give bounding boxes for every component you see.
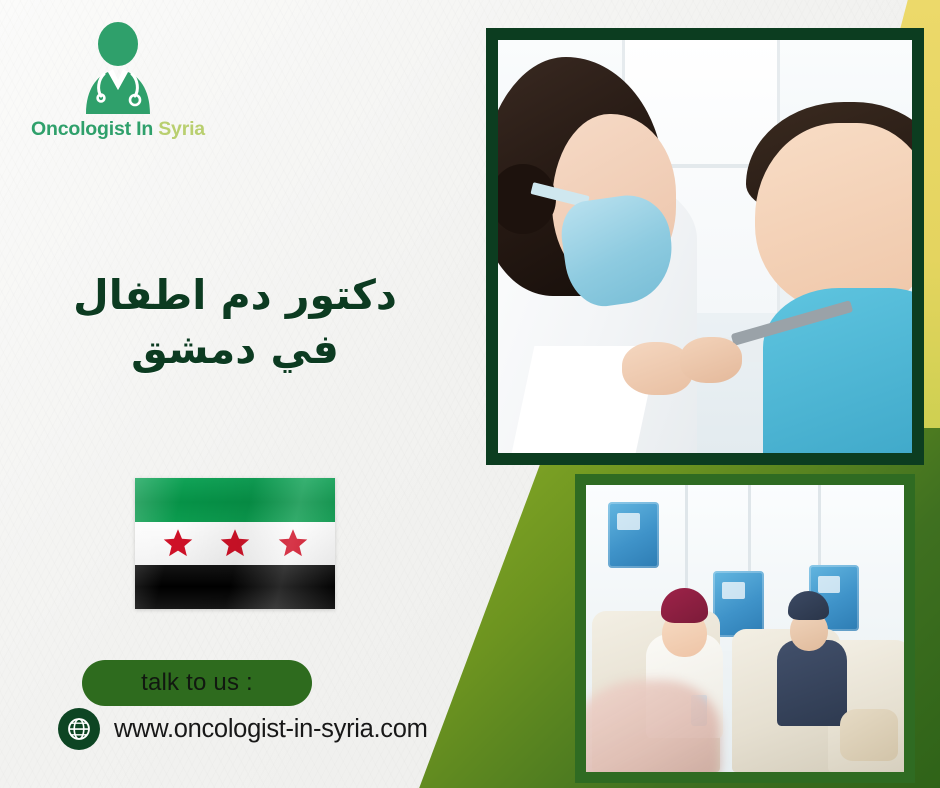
globe-icon	[66, 716, 92, 742]
brand-name-accent: Syria	[158, 118, 205, 140]
syrian-independence-flag	[135, 478, 335, 609]
folded-blanket	[840, 709, 897, 761]
globe-icon-badge	[58, 708, 100, 750]
doctor-examining-child-photo	[486, 28, 924, 465]
talk-to-us-button[interactable]: talk to us :	[82, 660, 312, 706]
photo-bottom-inner	[586, 485, 904, 772]
star-icon	[278, 528, 308, 558]
brand-name-primary: Oncologist In	[31, 118, 153, 140]
poster-canvas: Oncologist In Syria دكتور دم اطفال في دم…	[0, 0, 940, 788]
flag-band-green	[135, 478, 335, 522]
talk-to-us-label: talk to us :	[141, 669, 253, 697]
headline-line-2: في دمشق	[40, 322, 430, 376]
star-icon	[163, 528, 193, 558]
foreground-blur-figure	[586, 680, 720, 772]
brand-logo-text: Oncologist In Syria	[18, 118, 218, 141]
child-hand	[680, 337, 742, 382]
photo-top-scene	[498, 40, 912, 453]
infusion-pump	[713, 571, 764, 637]
flag-stars	[135, 522, 335, 565]
star-icon	[220, 528, 250, 558]
adult-patient-top	[777, 640, 847, 726]
brand-logo[interactable]: Oncologist In Syria	[18, 22, 218, 141]
website-url[interactable]: www.oncologist-in-syria.com	[114, 715, 428, 744]
flag-band-black	[135, 565, 335, 609]
doctor-silhouette-icon	[68, 22, 168, 114]
photo-bottom-scene	[586, 485, 904, 772]
chemotherapy-patients-photo	[575, 474, 915, 783]
infusion-pump	[608, 502, 659, 568]
headline: دكتور دم اطفال في دمشق	[40, 268, 430, 376]
website-row[interactable]: www.oncologist-in-syria.com	[58, 708, 428, 750]
photo-top-inner	[498, 40, 912, 453]
child-face	[755, 123, 912, 313]
headline-line-1: دكتور دم اطفال	[40, 268, 430, 322]
